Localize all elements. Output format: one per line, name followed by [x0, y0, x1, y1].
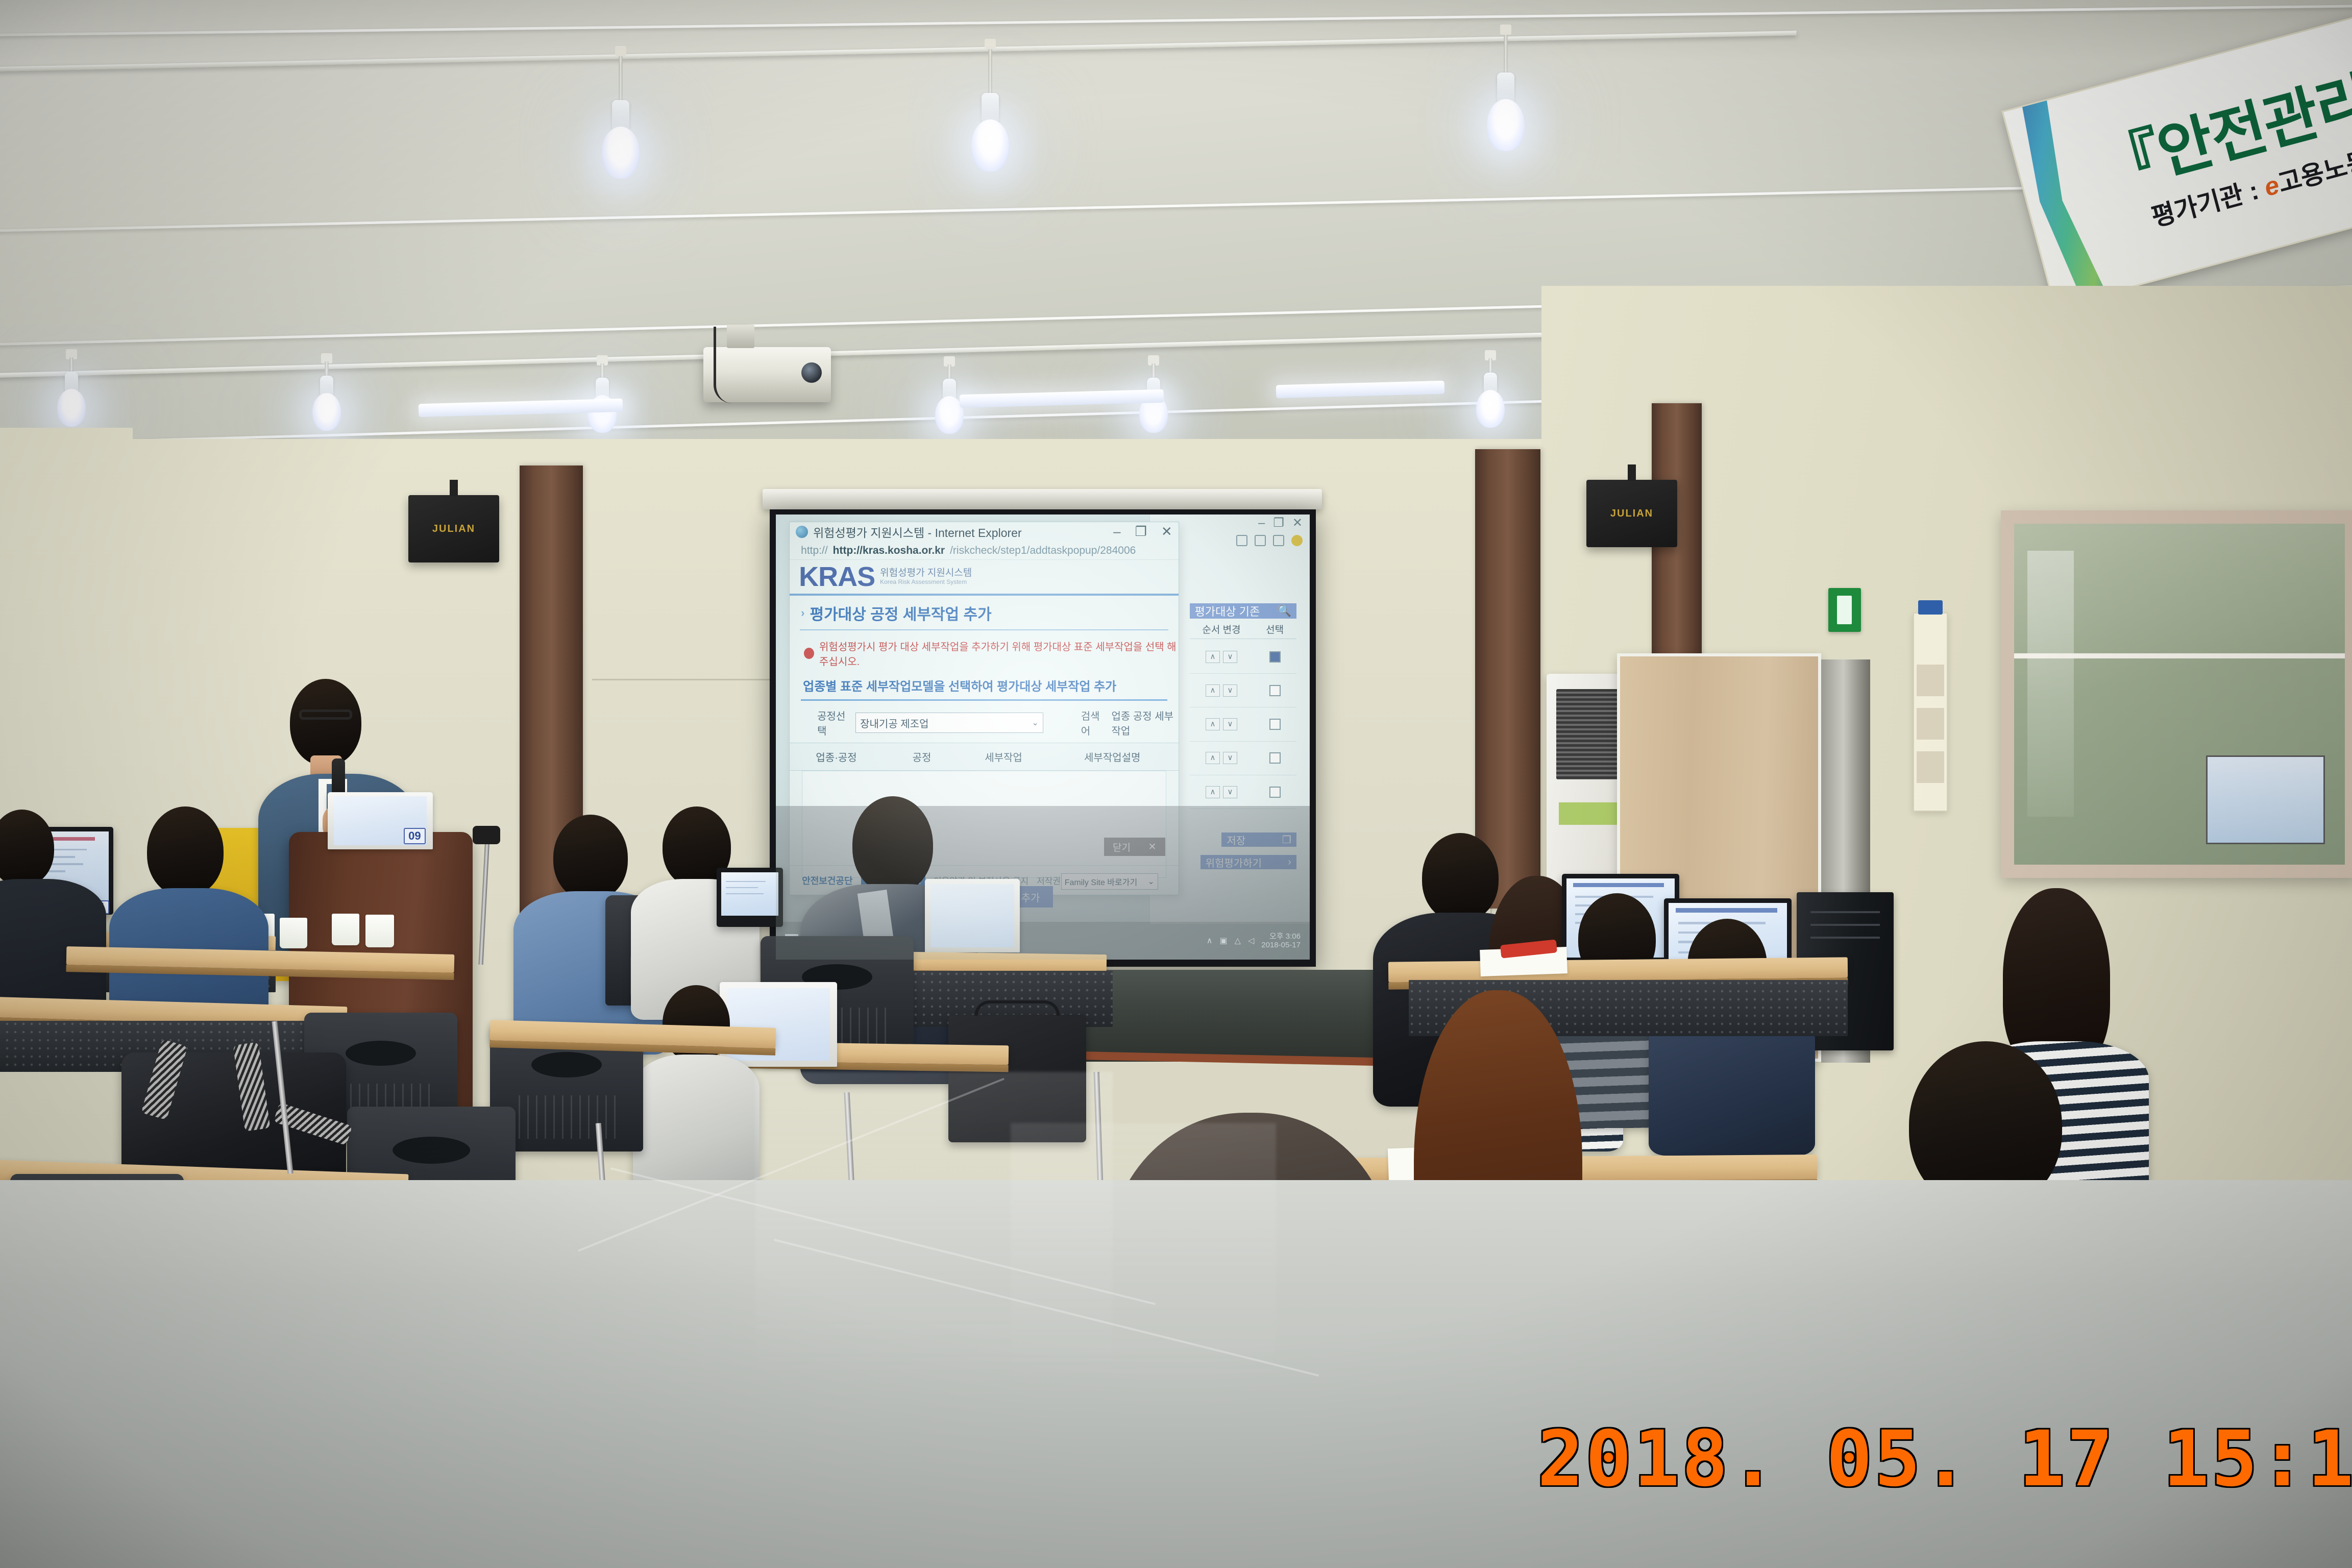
window-glare [2027, 551, 2074, 817]
th-task-desc: 세부작업설명 [1046, 743, 1179, 770]
monitor[interactable] [717, 868, 783, 927]
th-process: 공정 [883, 743, 961, 770]
col-select-label: 선택 [1266, 622, 1284, 636]
process-select[interactable]: 장내기공 제조업 ⌄ [855, 713, 1043, 733]
th-industry-process: 업종·공정 [790, 743, 883, 770]
internet-explorer-icon [796, 526, 808, 538]
move-up-icon[interactable]: ∧ [1206, 786, 1220, 798]
presenter-glasses-icon [299, 709, 352, 720]
attendee-mid-left [640, 985, 752, 1189]
row-checkbox[interactable] [1269, 787, 1281, 798]
paper-cup [280, 918, 307, 948]
move-down-icon[interactable]: ∨ [1223, 684, 1237, 697]
speaker-brand-label: JULIAN [1610, 508, 1653, 520]
window-title-bar[interactable]: 위험성평가 지원시스템 - Internet Explorer – ❐ ✕ [790, 522, 1179, 542]
search-icon[interactable]: 🔍 [1277, 604, 1291, 618]
alert-icon [804, 648, 814, 659]
url-scheme: http:// [801, 545, 828, 557]
row-checkbox[interactable] [1269, 651, 1281, 663]
window-sash [2014, 653, 2345, 658]
bg-maximize-icon[interactable]: ❐ [1273, 516, 1284, 530]
monitor-screen [721, 872, 778, 916]
gear-icon[interactable] [1273, 535, 1284, 546]
notice-board [1913, 612, 1948, 812]
bg-grid-header: 평가대상 기존 🔍 [1190, 603, 1296, 619]
attendee-laptop[interactable] [925, 879, 1020, 952]
bg-grid-row[interactable]: ∧∨ [1190, 640, 1296, 674]
section-title: 업종별 표준 세부작업모델을 선택하여 평가대상 세부작업 추가 [790, 672, 1179, 697]
camera-timestamp: 2018. 05. 17 15:17 [1537, 1415, 2352, 1504]
paper-cup [365, 915, 394, 947]
podium-laptop-number-tag: 09 [404, 828, 425, 844]
bg-grid-row[interactable]: ∧∨ [1190, 742, 1296, 775]
tray-expand-icon[interactable]: ∧ [1207, 936, 1213, 946]
tray-volume-icon[interactable]: △ [1235, 936, 1241, 946]
bg-grid-column-headers: 순서 변경 선택 [1190, 620, 1296, 639]
tray-network-icon[interactable]: ▣ [1220, 936, 1228, 946]
bg-minimize-icon[interactable]: – [1258, 516, 1265, 530]
search-hint: 업종 공정 세부작업 [1112, 708, 1179, 738]
interior-window [2001, 510, 2352, 878]
bullet-icon: › [801, 606, 804, 620]
exit-sign [1828, 588, 1861, 632]
bg-close-icon[interactable]: ✕ [1292, 516, 1303, 530]
wall-speaker-right: JULIAN [1586, 480, 1677, 547]
gooseneck-mic-head [473, 826, 500, 844]
attendee-back-left [0, 810, 102, 1024]
move-down-icon[interactable]: ∨ [1223, 718, 1237, 730]
window-reflected-monitor [2206, 755, 2325, 844]
podium-laptop[interactable]: 09 [328, 792, 433, 849]
process-select-value: 장내기공 제조업 [860, 716, 928, 730]
move-down-icon[interactable]: ∨ [1223, 651, 1237, 663]
status-dot-icon [1291, 535, 1303, 546]
home-icon[interactable] [1236, 535, 1247, 546]
kras-logo-subtitle: 위험성평가 지원시스템 Korea Risk Assessment System [880, 568, 972, 585]
chevron-down-icon: ⌄ [1032, 718, 1038, 728]
move-up-icon[interactable]: ∧ [1206, 752, 1220, 764]
taskbar-clock[interactable]: 오후 3:06 2018-05-17 [1261, 932, 1301, 950]
bg-grid-row[interactable]: ∧∨ [1190, 707, 1296, 741]
move-down-icon[interactable]: ∨ [1223, 752, 1237, 764]
notice-board-header-plate [1918, 600, 1943, 615]
classroom-photograph: 『안전관리 전문기관』 평가 평가기관 : e고용노동부(전국 109개 기관 … [0, 0, 2352, 1568]
minimize-button[interactable]: – [1113, 524, 1120, 540]
wall-speaker-left: JULIAN [408, 495, 499, 562]
row-checkbox[interactable] [1269, 719, 1281, 730]
bg-grid-row[interactable]: ∧∨ [1190, 775, 1296, 809]
move-down-icon[interactable]: ∨ [1223, 786, 1237, 798]
url-path: /riskcheck/step1/addtaskpopup/284006 [950, 545, 1136, 557]
results-table-header: 업종·공정 공정 세부작업 세부작업설명 [790, 743, 1179, 771]
address-bar[interactable]: http://http://kras.kosha.or.kr/riskcheck… [790, 542, 1179, 560]
window-title: 위험성평가 지원시스템 - Internet Explorer [813, 523, 1021, 541]
move-up-icon[interactable]: ∧ [1206, 718, 1220, 730]
bg-grid-row[interactable]: ∧∨ [1190, 674, 1296, 707]
tray-defender-icon[interactable]: ◁ [1248, 936, 1254, 946]
header-divider [790, 594, 1179, 596]
system-tray[interactable]: ∧ ▣ △ ◁ 오후 3:06 2018-05-17 [1207, 932, 1301, 950]
kras-logo: KRAS [799, 561, 875, 593]
projection-screen-housing [763, 489, 1322, 509]
star-icon[interactable] [1255, 535, 1266, 546]
move-up-icon[interactable]: ∧ [1206, 684, 1220, 697]
page-title: › 평가대상 공정 세부작업 추가 [790, 596, 1179, 629]
speaker-brand-label: JULIAN [432, 523, 475, 535]
url-host: http://kras.kosha.or.kr [833, 545, 945, 557]
warning-notice: 위험성평가시 평가 대상 세부작업을 추가하기 위해 평가대상 표준 세부작업을… [790, 630, 1179, 672]
row-checkbox[interactable] [1269, 685, 1281, 696]
row-checkbox[interactable] [1269, 752, 1281, 764]
bg-grid-header-label: 평가대상 기존 [1195, 603, 1260, 619]
process-select-label: 공정선택 [817, 708, 848, 738]
th-task: 세부작업 [961, 743, 1046, 770]
desk [1388, 957, 1848, 982]
search-label: 검색어 [1081, 708, 1105, 738]
col-order-label: 순서 변경 [1202, 622, 1240, 636]
floor-reflection [1011, 1123, 1276, 1388]
filter-row: 공정선택 장내기공 제조업 ⌄ 검색어 업종 공정 세부작업 [790, 701, 1179, 743]
close-button[interactable]: ✕ [1161, 524, 1172, 540]
presenter-head [290, 679, 361, 766]
ceiling-projector [703, 347, 831, 402]
paper-cup [332, 914, 359, 945]
maximize-button[interactable]: ❐ [1135, 524, 1147, 540]
move-up-icon[interactable]: ∧ [1206, 651, 1220, 663]
kras-brand-header: KRAS 위험성평가 지원시스템 Korea Risk Assessment S… [790, 560, 1179, 594]
